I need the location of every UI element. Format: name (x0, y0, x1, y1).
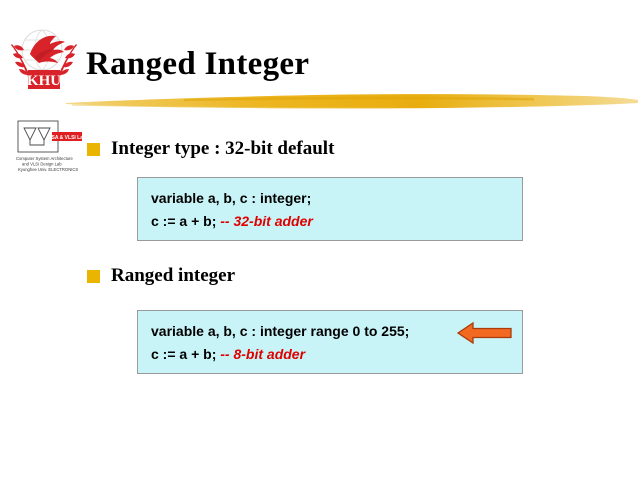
bullet-square-icon (87, 143, 100, 156)
slide-canvas: KHU CSA & VLSI Lab Computer System Archi… (0, 0, 640, 480)
left-arrow-icon (456, 321, 513, 345)
page-title: Ranged Integer (86, 45, 309, 83)
khu-wordmark: KHU (27, 73, 61, 89)
lab-caption-line-2: and VLSI Design Lab (22, 162, 62, 167)
code-line-1: variable a, b, c : integer; (151, 190, 311, 207)
code-box-1: variable a, b, c : integer; c := a + b; … (137, 177, 523, 241)
code-box-2: variable a, b, c : integer range 0 to 25… (137, 310, 523, 374)
code-comment: -- 32-bit adder (220, 213, 313, 229)
code-line-1: variable a, b, c : integer range 0 to 25… (151, 323, 409, 340)
code-comment: -- 8-bit adder (220, 346, 305, 362)
bullet-square-icon (87, 270, 100, 283)
bullet-label-1: Integer type : 32-bit default (111, 138, 334, 160)
lab-caption-line-3: Kyunghee Univ. ELECTRONICS (18, 167, 78, 172)
lab-caption-line-1: Computer System Architecture (16, 156, 73, 161)
bullet-item-2: Ranged integer (87, 265, 235, 287)
bullet-item-1: Integer type : 32-bit default (87, 138, 334, 160)
title-brush-underline (64, 86, 640, 112)
code-line-2: c := a + b; -- 8-bit adder (151, 346, 305, 363)
khu-crest-logo: KHU (8, 24, 80, 90)
code-statement: c := a + b; (151, 213, 220, 229)
bullet-label-2: Ranged integer (111, 265, 235, 287)
code-statement: c := a + b; (151, 346, 220, 362)
lab-badge-text: CSA & VLSI Lab (48, 135, 86, 141)
lab-logo: CSA & VLSI Lab Computer System Architect… (12, 118, 88, 176)
code-line-2: c := a + b; -- 32-bit adder (151, 213, 313, 230)
